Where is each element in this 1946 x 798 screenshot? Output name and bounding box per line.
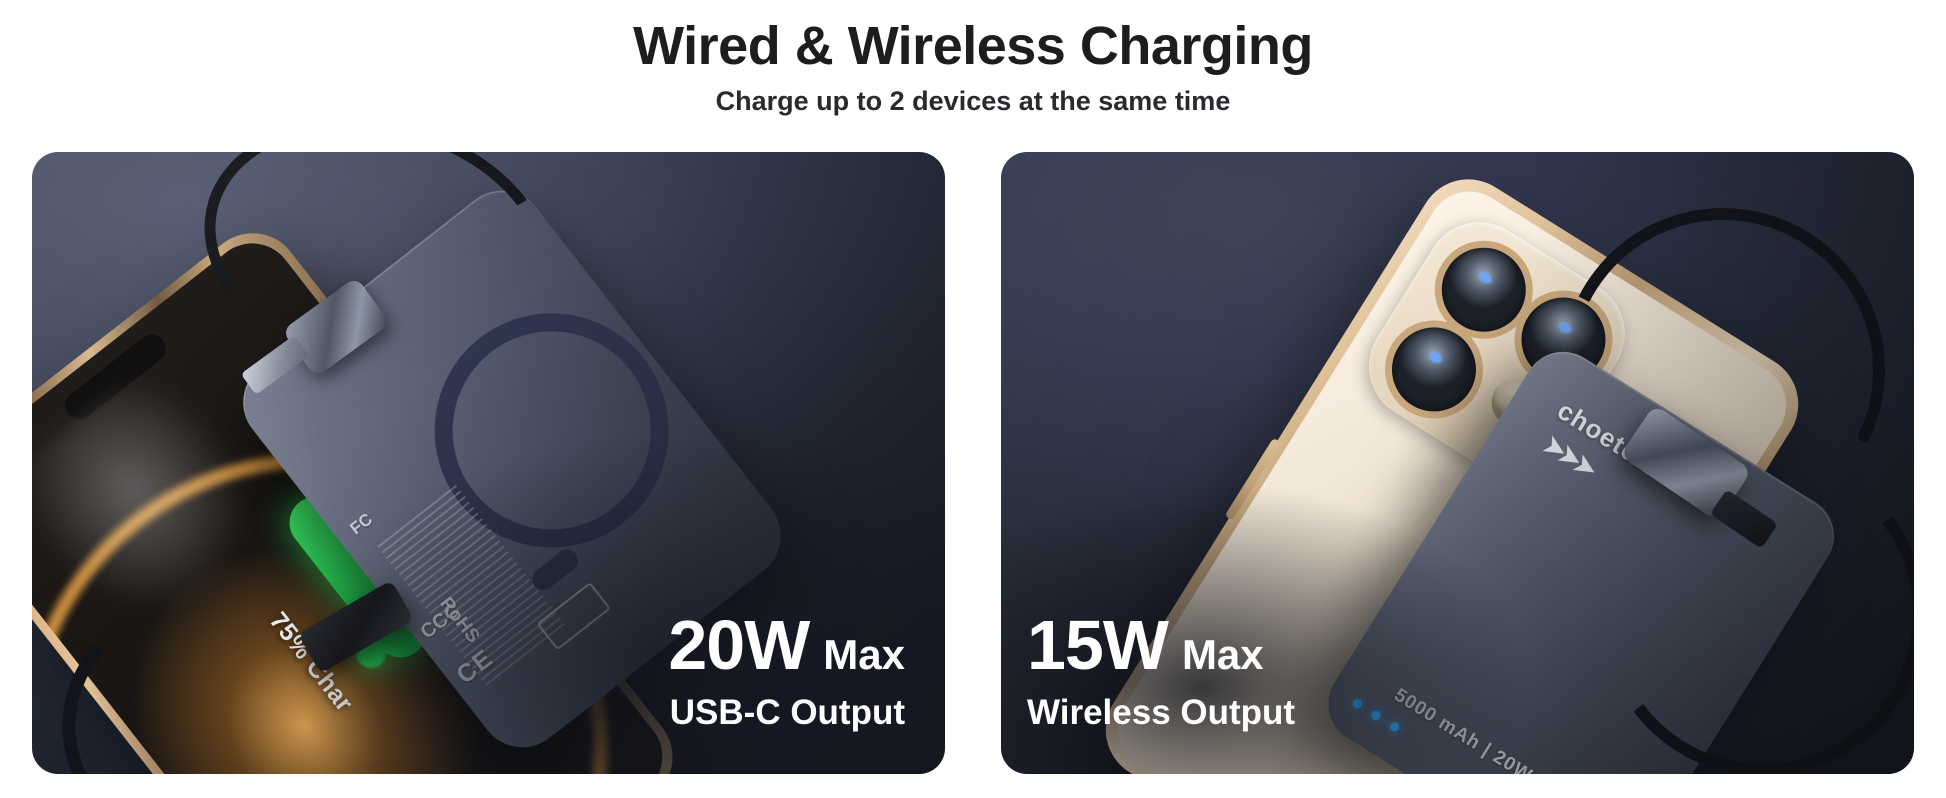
caption-wattage-line: 20WMax (668, 610, 905, 680)
output-type-label: USB-C Output (668, 694, 905, 733)
header-block: Wired & Wireless Charging Charge up to 2… (0, 0, 1946, 117)
wireless-output-panel[interactable]: choetech ➤➤➤ 5000 mAh | 20W 15WMax Wirel… (1001, 152, 1914, 774)
output-type-label: Wireless Output (1027, 694, 1295, 733)
caption-wattage-line: 15WMax (1027, 610, 1295, 680)
max-label: Max (1182, 631, 1264, 678)
usb-c-output-panel[interactable]: 75% Char FC CCC RoHS CE 20WMax USB-C Out… (32, 152, 945, 774)
caption-wired: 20WMax USB-C Output (668, 610, 905, 733)
wattage-value: 15W (1027, 606, 1168, 684)
caption-wireless: 15WMax Wireless Output (1027, 610, 1295, 733)
max-label: Max (823, 631, 905, 678)
page-title: Wired & Wireless Charging (0, 18, 1946, 75)
wattage-value: 20W (668, 606, 809, 684)
page-subtitle: Charge up to 2 devices at the same time (0, 85, 1946, 117)
feature-panels: 75% Char FC CCC RoHS CE 20WMax USB-C Out… (32, 152, 1914, 774)
